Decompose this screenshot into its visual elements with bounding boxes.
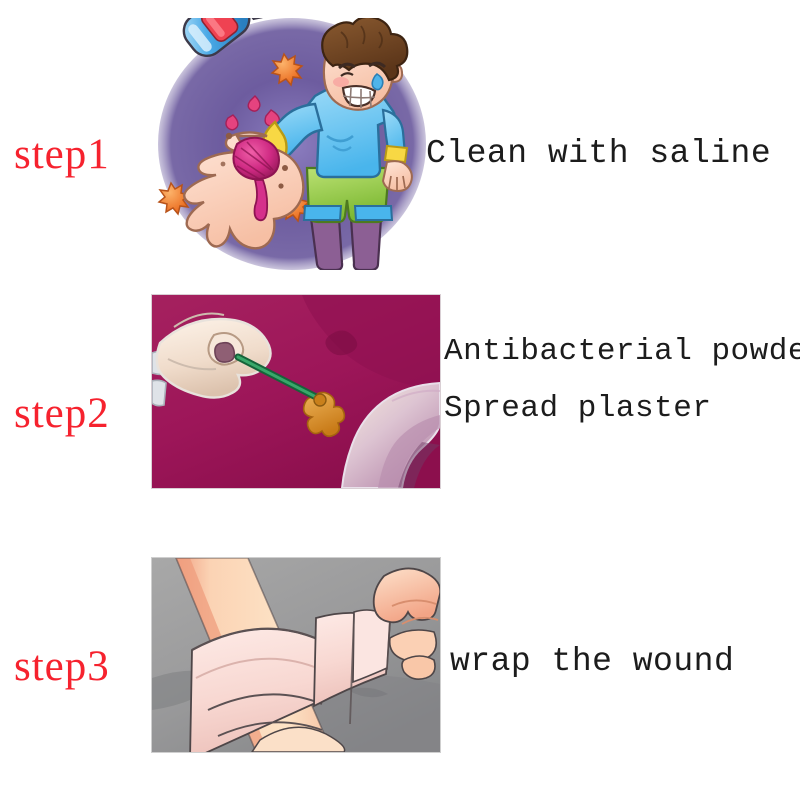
step-3-caption: wrap the wound — [450, 645, 734, 678]
step-2-caption-block: Antibacterial powder Spread plaster — [444, 336, 800, 450]
step-2-caption-line-2: Spread plaster — [444, 393, 800, 424]
step-label-1: step1 — [14, 133, 110, 176]
step-2-caption-line-1: Antibacterial powder — [444, 336, 800, 367]
antiseptic-swab-illustration — [152, 295, 440, 488]
step-1-illustration — [155, 18, 430, 270]
step-row-3: step3 — [0, 552, 800, 762]
step-row-2: step2 — [0, 288, 800, 538]
step-1-caption: Clean with saline — [426, 137, 771, 170]
bandage-wrapping-illustration — [152, 558, 440, 752]
step-3-illustration — [152, 558, 440, 752]
step-label-2: step2 — [14, 392, 110, 435]
step-label-3: step3 — [14, 645, 110, 688]
step-row-1: step1 — [0, 0, 800, 280]
cartoon-boy-saline-illustration — [155, 18, 430, 270]
step-2-illustration — [152, 295, 440, 488]
first-aid-steps-page: step1 — [0, 0, 800, 800]
